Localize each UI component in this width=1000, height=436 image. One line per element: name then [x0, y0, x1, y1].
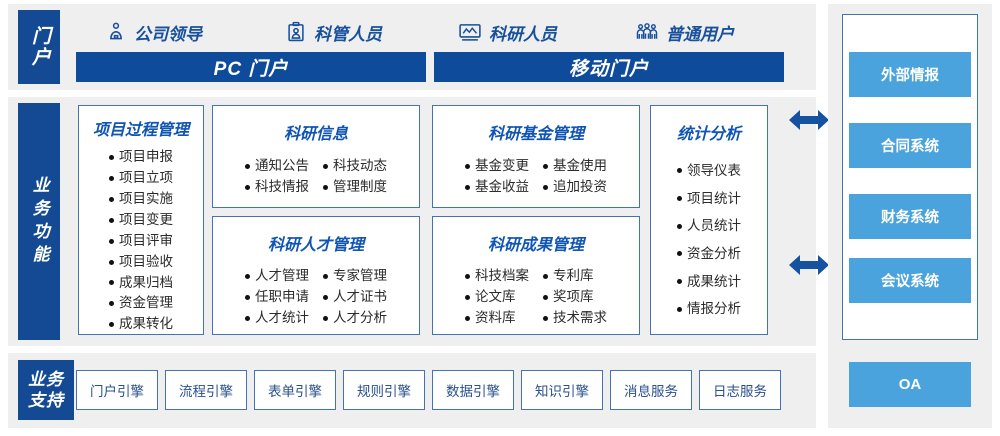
- module-card-title: 科研基金管理: [488, 120, 584, 144]
- portal-role-label-1: 科管人员: [314, 20, 382, 45]
- module-item[interactable]: 项目实施: [109, 189, 173, 210]
- portal-role-2[interactable]: 科研人员: [458, 20, 557, 45]
- engine-chip-1[interactable]: 流程引擎: [165, 370, 247, 410]
- module-item[interactable]: 科技动态: [323, 156, 387, 177]
- module-item[interactable]: 基金收益: [465, 177, 529, 198]
- external-system-label: 会议系统: [881, 270, 939, 291]
- module-card-statistics[interactable]: 统计分析 领导仪表 项目统计 人员统计 资金分析 成果统计 情报分析: [650, 105, 768, 335]
- portal-role-label-2: 科研人员: [489, 20, 557, 45]
- module-card-title: 科研成果管理: [488, 231, 584, 255]
- module-item[interactable]: 通知公告: [245, 156, 309, 177]
- module-item[interactable]: 科技档案: [465, 266, 529, 287]
- engine-label: 日志服务: [713, 380, 767, 400]
- external-system-chip-2[interactable]: 财务系统: [849, 194, 971, 239]
- external-system-chip-0[interactable]: 外部情报: [849, 52, 971, 97]
- module-item[interactable]: 追加投资: [543, 177, 607, 198]
- external-system-chip-1[interactable]: 合同系统: [849, 123, 971, 168]
- module-item[interactable]: 奖项库: [543, 287, 607, 308]
- module-item[interactable]: 成果转化: [109, 314, 173, 335]
- engine-chip-0[interactable]: 门户引擎: [76, 370, 158, 410]
- module-item[interactable]: 项目评审: [109, 231, 173, 252]
- module-item[interactable]: 人才分析: [323, 308, 387, 329]
- oa-system-chip[interactable]: OA: [849, 362, 971, 407]
- module-card-project-process[interactable]: 项目过程管理 项目申报 项目立项 项目实施 项目变更 项目评审 项目验收 成果归…: [78, 105, 204, 335]
- module-item[interactable]: 专利库: [543, 266, 607, 287]
- portal-role-1[interactable]: 科管人员: [285, 20, 382, 45]
- engine-chip-2[interactable]: 表单引擎: [254, 370, 336, 410]
- external-system-label: 外部情报: [881, 64, 939, 85]
- mobile-portal-label: 移动门户: [569, 54, 649, 81]
- business-support-label-text: 业务支持: [27, 369, 64, 412]
- module-card-research-info[interactable]: 科研信息 通知公告 科技动态 科技情报 管理制度: [212, 105, 420, 208]
- module-item[interactable]: 项目申报: [109, 147, 173, 168]
- module-card-items: 通知公告 科技动态 科技情报 管理制度: [245, 156, 387, 198]
- external-system-label: 财务系统: [881, 206, 939, 227]
- chart-monitor-icon: [458, 21, 482, 43]
- portal-role-label-0: 公司领导: [134, 20, 202, 45]
- person-icon: [105, 21, 127, 43]
- business-function-vertical-label: 业务功能: [18, 103, 60, 340]
- module-item[interactable]: 资金分析: [677, 240, 741, 268]
- pc-portal-label: PC 门户: [214, 54, 289, 81]
- module-item[interactable]: 基金变更: [465, 156, 529, 177]
- mobile-portal-bar[interactable]: 移动门户: [434, 52, 784, 82]
- module-item[interactable]: 成果归档: [109, 273, 173, 294]
- business-support-label: 业务支持: [18, 360, 74, 420]
- module-card-items: 项目申报 项目立项 项目实施 项目变更 项目评审 项目验收 成果归档 资金管理 …: [109, 147, 173, 335]
- module-item[interactable]: 项目立项: [109, 168, 173, 189]
- module-item[interactable]: 资金管理: [109, 293, 173, 314]
- module-item[interactable]: 科技情报: [245, 177, 309, 198]
- top-bidirectional-arrow: [787, 105, 831, 135]
- module-item[interactable]: 成果统计: [677, 268, 741, 296]
- module-card-items: 科技档案 专利库 论文库 奖项库 资料库 技术需求: [465, 266, 607, 329]
- portal-roles: 公司领导 科管人员 科研人员: [100, 17, 800, 47]
- engine-label: 数据引擎: [446, 380, 500, 400]
- module-item[interactable]: 领导仪表: [677, 157, 741, 185]
- module-card-items: 基金变更 基金使用 基金收益 追加投资: [465, 156, 607, 198]
- module-card-title: 项目过程管理: [93, 116, 189, 140]
- module-card-research-achievement[interactable]: 科研成果管理 科技档案 专利库 论文库 奖项库 资料库 技术需求: [432, 216, 640, 335]
- bottom-bidirectional-arrow: [787, 250, 831, 280]
- engine-label: 知识引擎: [535, 380, 589, 400]
- module-item[interactable]: 项目变更: [109, 210, 173, 231]
- business-function-label-text: 业务功能: [28, 176, 49, 268]
- module-item[interactable]: 人才统计: [245, 308, 309, 329]
- engine-chip-4[interactable]: 数据引擎: [432, 370, 514, 410]
- external-system-chip-3[interactable]: 会议系统: [849, 258, 971, 303]
- module-item[interactable]: 人员统计: [677, 212, 741, 240]
- module-card-items: 领导仪表 项目统计 人员统计 资金分析 成果统计 情报分析: [677, 157, 741, 323]
- pc-portal-bar[interactable]: PC 门户: [76, 52, 426, 82]
- module-item[interactable]: 管理制度: [323, 177, 387, 198]
- module-card-research-talent[interactable]: 科研人才管理 人才管理 专家管理 任职申请 人才证书 人才统计 人才分析: [212, 216, 420, 335]
- module-item[interactable]: 项目验收: [109, 252, 173, 273]
- module-item[interactable]: 项目统计: [677, 185, 741, 213]
- module-item[interactable]: 任职申请: [245, 287, 309, 308]
- engine-label: 门户引擎: [90, 380, 144, 400]
- module-item[interactable]: 人才管理: [245, 266, 309, 287]
- engine-chip-7[interactable]: 日志服务: [699, 370, 781, 410]
- portal-role-label-3: 普通用户: [666, 20, 734, 45]
- engine-label: 规则引擎: [357, 380, 411, 400]
- module-card-title: 科研信息: [284, 120, 348, 144]
- module-item[interactable]: 论文库: [465, 287, 529, 308]
- portal-role-3[interactable]: 普通用户: [635, 20, 734, 45]
- portal-label-text: 门户: [27, 26, 51, 68]
- module-item[interactable]: 情报分析: [677, 295, 741, 323]
- engine-label: 表单引擎: [268, 380, 322, 400]
- architecture-diagram: 门户 公司领导 科管人员: [0, 0, 1000, 436]
- module-card-research-fund[interactable]: 科研基金管理 基金变更 基金使用 基金收益 追加投资: [432, 105, 640, 208]
- module-item[interactable]: 人才证书: [323, 287, 387, 308]
- module-item[interactable]: 技术需求: [543, 308, 607, 329]
- module-item[interactable]: 基金使用: [543, 156, 607, 177]
- engine-chip-3[interactable]: 规则引擎: [343, 370, 425, 410]
- engine-chip-6[interactable]: 消息服务: [610, 370, 692, 410]
- portal-vertical-label: 门户: [18, 10, 60, 84]
- module-card-title: 科研人才管理: [268, 231, 364, 255]
- module-item[interactable]: 专家管理: [323, 266, 387, 287]
- portal-role-0[interactable]: 公司领导: [105, 20, 202, 45]
- oa-system-label: OA: [899, 376, 922, 393]
- external-system-label: 合同系统: [881, 135, 939, 156]
- module-card-items: 人才管理 专家管理 任职申请 人才证书 人才统计 人才分析: [245, 266, 387, 329]
- engine-chip-5[interactable]: 知识引擎: [521, 370, 603, 410]
- module-item[interactable]: 资料库: [465, 308, 529, 329]
- module-card-title: 统计分析: [677, 120, 741, 144]
- id-badge-person-icon: [285, 21, 307, 43]
- engine-label: 流程引擎: [179, 380, 233, 400]
- engine-label: 消息服务: [624, 380, 678, 400]
- people-group-icon: [635, 21, 659, 43]
